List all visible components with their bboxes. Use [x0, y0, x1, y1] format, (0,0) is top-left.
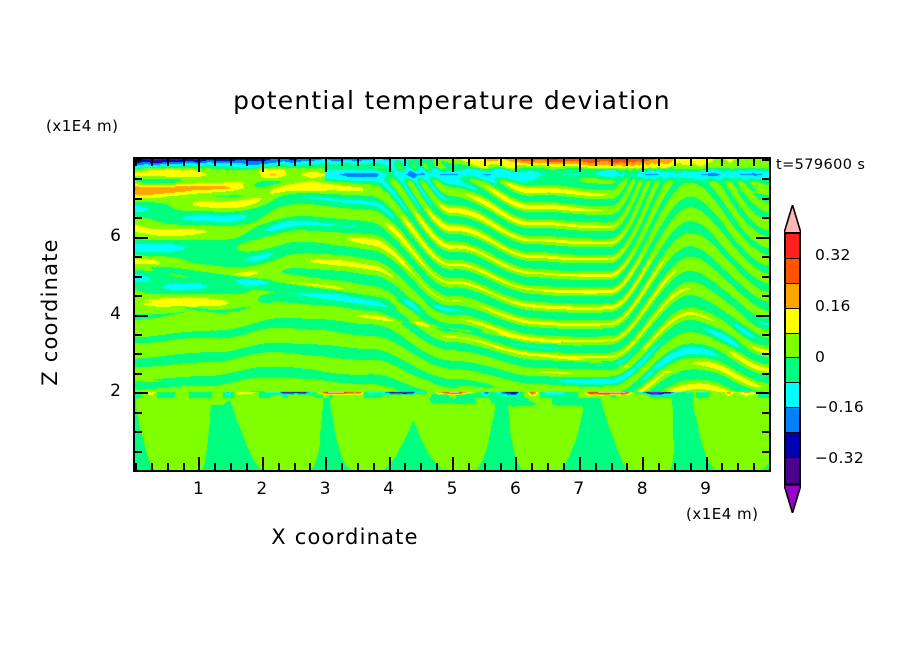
colorbar-band: [786, 408, 799, 433]
y-tick-minor: [135, 198, 142, 200]
x-tick-minor: [547, 463, 549, 470]
x-tick-minor-top: [769, 159, 771, 166]
x-tick-label: 7: [559, 479, 599, 499]
x-tick-minor-top: [420, 159, 422, 166]
x-tick-minor-top: [721, 159, 723, 166]
x-tick-minor-top: [341, 159, 343, 166]
page-title: potential temperature deviation: [0, 86, 904, 115]
x-tick-minor: [468, 463, 470, 470]
x-tick-minor: [230, 463, 232, 470]
y-tick-minor: [135, 412, 142, 414]
colorbar-tick-label: −0.16: [815, 398, 864, 416]
x-tick-minor: [389, 457, 391, 470]
x-tick-minor-top: [167, 159, 169, 166]
x-tick-minor-top: [579, 159, 581, 172]
x-tick-minor-top: [468, 159, 470, 166]
x-tick-minor: [309, 463, 311, 470]
colorbar-band: [786, 309, 799, 334]
x-axis-unit-label: (x1E4 m): [686, 505, 759, 523]
x-tick-minor-top: [278, 159, 280, 166]
colorbar-band: [786, 259, 799, 284]
x-tick-minor-top: [563, 159, 565, 166]
y-axis-title: Z coordinate: [38, 202, 62, 422]
x-tick-minor-top: [658, 159, 660, 166]
x-tick-label: 9: [686, 479, 726, 499]
y-tick-minor: [135, 431, 142, 433]
y-tick-minor: [135, 315, 148, 317]
x-tick-minor-top: [262, 159, 264, 172]
x-tick-label: 4: [369, 479, 409, 499]
x-tick-label: 2: [242, 479, 282, 499]
colorbar-tick-label: −0.32: [815, 449, 864, 467]
x-tick-minor: [531, 463, 533, 470]
x-tick-minor: [183, 463, 185, 470]
y-tick-minor-right: [756, 392, 769, 394]
x-tick-minor-top: [706, 159, 708, 172]
x-tick-minor: [294, 463, 296, 470]
x-tick-minor-top: [690, 159, 692, 166]
x-tick-minor: [214, 463, 216, 470]
x-tick-minor-top: [230, 159, 232, 166]
y-tick-minor: [135, 237, 148, 239]
x-tick-minor: [325, 457, 327, 470]
x-tick-minor: [198, 457, 200, 470]
colorbar-tick-label: 0: [815, 348, 825, 366]
x-tick-minor: [563, 463, 565, 470]
y-tick-label: 6: [81, 226, 121, 246]
x-tick-minor: [515, 457, 517, 470]
colorbar-band: [786, 433, 799, 458]
x-tick-minor: [658, 463, 660, 470]
x-tick-minor-top: [389, 159, 391, 172]
y-tick-minor-right: [762, 334, 769, 336]
y-tick-minor-right: [762, 451, 769, 453]
colorbar-cap-bottom: [784, 485, 801, 513]
x-tick-minor: [167, 463, 169, 470]
x-tick-label: 8: [622, 479, 662, 499]
x-tick-minor: [769, 463, 771, 470]
x-tick-minor-top: [626, 159, 628, 166]
x-tick-minor-top: [436, 159, 438, 166]
y-tick-minor-right: [762, 412, 769, 414]
x-tick-minor-top: [674, 159, 676, 166]
x-tick-minor-top: [373, 159, 375, 166]
x-tick-minor-top: [531, 159, 533, 166]
x-tick-minor-top: [515, 159, 517, 172]
y-tick-minor-right: [762, 178, 769, 180]
time-annotation: t=579600 s: [776, 157, 865, 173]
colorbar-cap-top: [784, 205, 801, 233]
colorbar-tick-label: 0.16: [815, 297, 851, 315]
x-tick-minor: [151, 463, 153, 470]
x-tick-minor-top: [452, 159, 454, 172]
x-tick-minor: [737, 463, 739, 470]
y-tick-minor: [135, 334, 142, 336]
x-tick-minor: [246, 463, 248, 470]
y-tick-minor: [135, 217, 142, 219]
x-tick-minor: [278, 463, 280, 470]
colorbar-band: [786, 358, 799, 383]
x-tick-minor: [721, 463, 723, 470]
y-axis-unit-label: (x1E4 m): [46, 117, 119, 135]
y-tick-minor: [135, 470, 142, 472]
x-tick-minor-top: [500, 159, 502, 166]
x-tick-minor: [341, 463, 343, 470]
x-tick-minor: [626, 463, 628, 470]
x-tick-label: 3: [305, 479, 345, 499]
x-tick-minor: [595, 463, 597, 470]
x-tick-minor-top: [309, 159, 311, 166]
x-tick-minor: [436, 463, 438, 470]
x-tick-minor: [706, 457, 708, 470]
colorbar: [784, 232, 801, 485]
x-tick-minor-top: [595, 159, 597, 166]
colorbar-tick-label: 0.32: [815, 246, 851, 264]
x-tick-minor-top: [642, 159, 644, 172]
x-tick-label: 1: [178, 479, 218, 499]
x-tick-minor: [611, 463, 613, 470]
y-tick-minor-right: [756, 237, 769, 239]
y-tick-minor-right: [762, 431, 769, 433]
y-tick-minor: [135, 256, 142, 258]
y-tick-label: 2: [81, 381, 121, 401]
x-tick-minor: [404, 463, 406, 470]
x-tick-minor-top: [214, 159, 216, 166]
y-tick-minor-right: [762, 373, 769, 375]
y-tick-minor: [135, 159, 142, 161]
x-tick-label: 5: [432, 479, 472, 499]
x-tick-minor-top: [151, 159, 153, 166]
x-tick-minor: [452, 457, 454, 470]
x-tick-minor-top: [737, 159, 739, 166]
x-tick-minor: [135, 463, 137, 470]
x-tick-minor-top: [294, 159, 296, 166]
x-tick-minor: [420, 463, 422, 470]
x-tick-minor: [262, 457, 264, 470]
x-tick-minor: [484, 463, 486, 470]
x-tick-minor: [357, 463, 359, 470]
colorbar-band: [786, 234, 799, 259]
y-tick-minor-right: [762, 470, 769, 472]
x-tick-minor: [690, 463, 692, 470]
y-tick-minor-right: [762, 256, 769, 258]
colorbar-band: [786, 383, 799, 408]
y-tick-minor-right: [762, 295, 769, 297]
y-tick-minor: [135, 392, 148, 394]
colorbar-band: [786, 284, 799, 309]
x-axis-title: X coordinate: [0, 525, 690, 549]
x-tick-minor: [579, 457, 581, 470]
y-tick-label: 4: [81, 304, 121, 324]
x-tick-minor-top: [753, 159, 755, 166]
x-tick-label: 6: [495, 479, 535, 499]
y-tick-minor: [135, 373, 142, 375]
y-tick-minor-right: [762, 276, 769, 278]
y-tick-minor-right: [762, 159, 769, 161]
y-tick-minor: [135, 451, 142, 453]
contour-field: [135, 159, 769, 470]
x-tick-minor-top: [183, 159, 185, 166]
x-tick-minor: [674, 463, 676, 470]
x-tick-minor-top: [547, 159, 549, 166]
y-tick-minor: [135, 295, 142, 297]
colorbar-band: [786, 458, 799, 483]
y-tick-minor-right: [762, 198, 769, 200]
y-tick-minor-right: [762, 353, 769, 355]
x-tick-minor: [373, 463, 375, 470]
x-tick-minor: [753, 463, 755, 470]
contour-plot-area: [133, 157, 771, 472]
x-tick-minor-top: [484, 159, 486, 166]
y-tick-minor-right: [756, 315, 769, 317]
colorbar-band: [786, 334, 799, 359]
x-tick-minor: [642, 457, 644, 470]
x-tick-minor-top: [198, 159, 200, 172]
x-tick-minor-top: [325, 159, 327, 172]
x-tick-minor-top: [246, 159, 248, 166]
x-tick-minor-top: [357, 159, 359, 166]
y-tick-minor: [135, 178, 142, 180]
x-tick-minor-top: [404, 159, 406, 166]
x-tick-minor-top: [611, 159, 613, 166]
y-tick-minor: [135, 353, 142, 355]
y-tick-minor: [135, 276, 142, 278]
figure-canvas: potential temperature deviation (x1E4 m)…: [0, 0, 904, 654]
x-tick-minor: [500, 463, 502, 470]
y-tick-minor-right: [762, 217, 769, 219]
